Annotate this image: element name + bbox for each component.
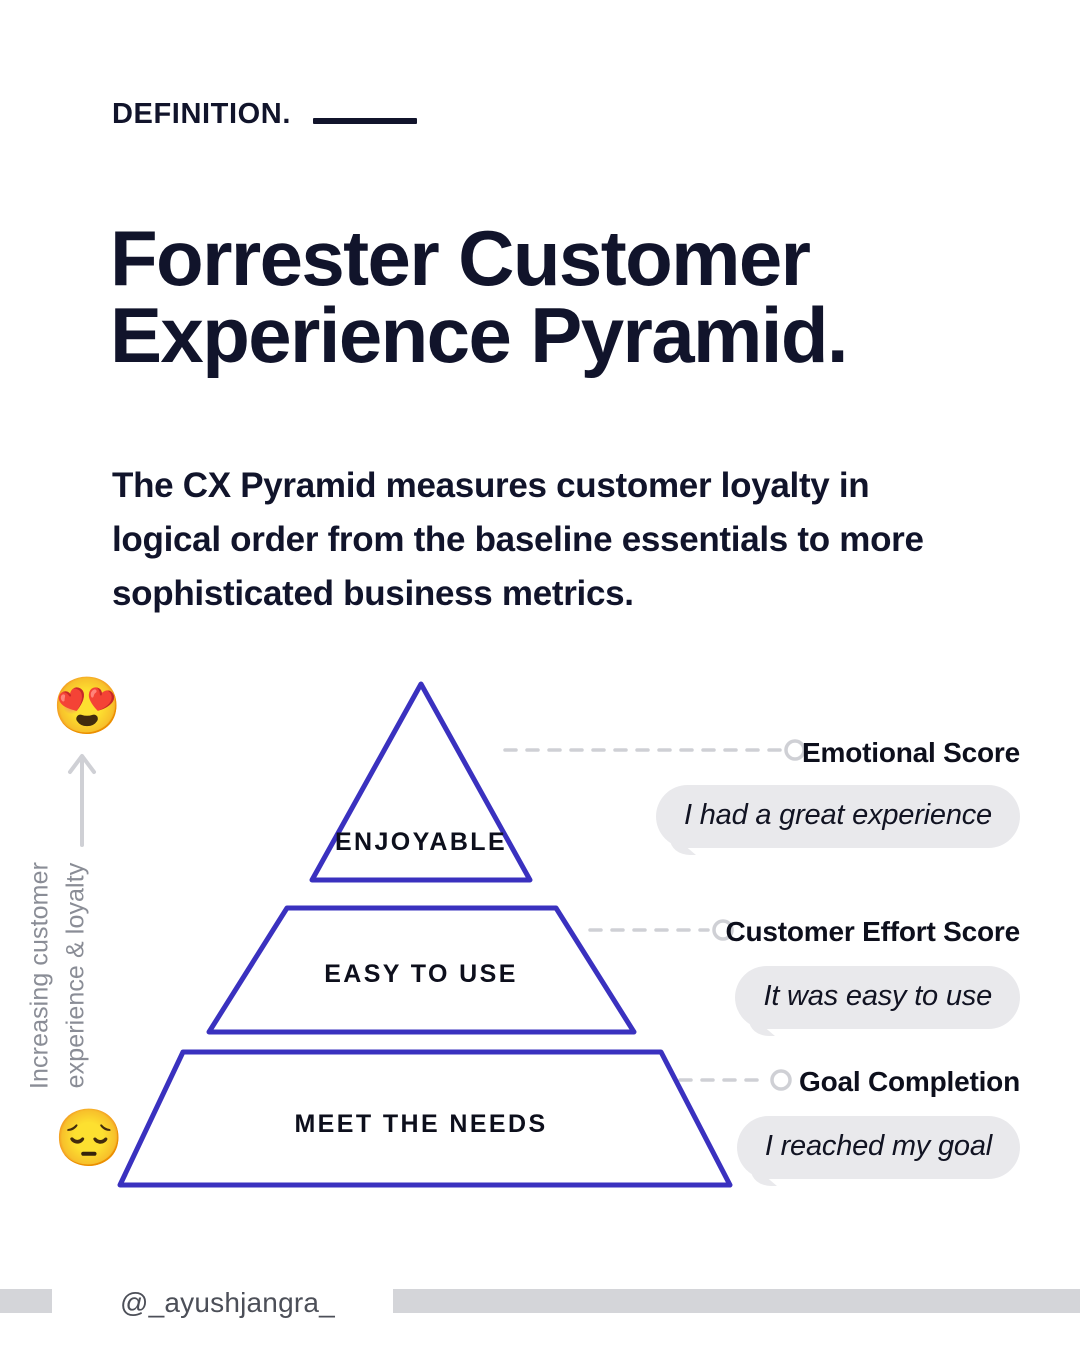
- connector-endpoint-tier-2: [772, 1071, 790, 1089]
- footer-bar-right: [393, 1289, 1080, 1313]
- author-handle: @_ayushjangra_: [120, 1287, 335, 1319]
- page-title: Forrester Customer Experience Pyramid.: [110, 220, 990, 374]
- page-description: The CX Pyramid measures customer loyalty…: [112, 459, 992, 621]
- metric-label-goal-completion: Goal Completion: [799, 1066, 1020, 1098]
- eyebrow-label: DEFINITION.: [112, 100, 291, 129]
- tier-label-enjoyable: ENJOYABLE: [335, 828, 507, 857]
- axis-caption-line-2: experience & loyalty: [58, 826, 94, 1126]
- smiling-face-with-heart-eyes-icon: 😍: [52, 678, 122, 734]
- axis-caption: Increasing customer experience & loyalty: [23, 826, 94, 1126]
- metric-label-emotional-score: Emotional Score: [802, 737, 1020, 769]
- page-title-line-1: Forrester Customer: [110, 220, 990, 297]
- page-description-line-2: logical order from the baseline essentia…: [112, 513, 992, 567]
- quote-bubble-emotional-score: I had a great experience: [656, 785, 1020, 848]
- cx-pyramid-diagram: 😍 😔 Increasing customer experience & loy…: [0, 640, 1080, 1220]
- eyebrow-rule: [313, 118, 417, 124]
- metric-label-customer-effort-score: Customer Effort Score: [725, 916, 1020, 948]
- footer-bar-left: [0, 1289, 52, 1313]
- quote-bubble-goal-completion: I reached my goal: [737, 1116, 1020, 1179]
- page-description-line-1: The CX Pyramid measures customer loyalty…: [112, 459, 992, 513]
- axis-caption-line-1: Increasing customer: [23, 826, 59, 1126]
- page-title-line-2: Experience Pyramid.: [110, 297, 990, 374]
- page-description-line-3: sophisticated business metrics.: [112, 567, 992, 621]
- tier-label-easy-to-use: EASY TO USE: [324, 960, 518, 989]
- quote-bubble-customer-effort-score: It was easy to use: [735, 966, 1020, 1029]
- eyebrow: DEFINITION.: [112, 100, 417, 129]
- tier-label-meet-the-needs: MEET THE NEEDS: [294, 1110, 547, 1139]
